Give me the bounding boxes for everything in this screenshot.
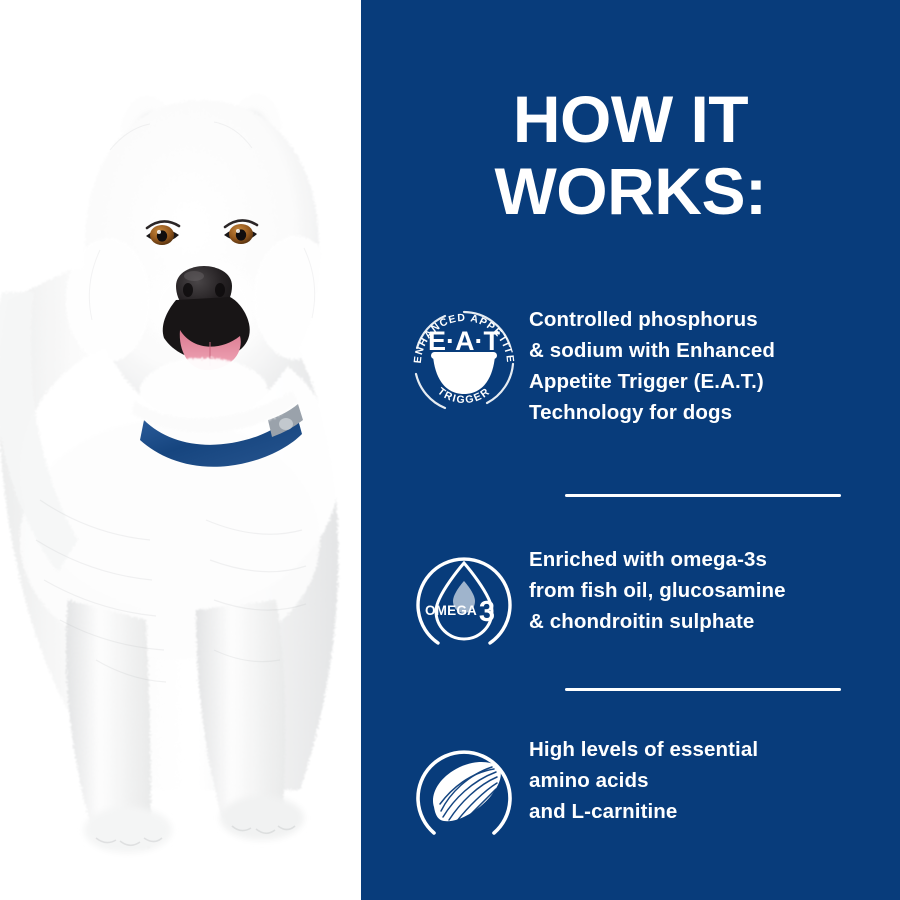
- feature-line: Controlled phosphorus: [529, 304, 775, 335]
- feature-line: Technology for dogs: [529, 397, 775, 428]
- muscle-fiber-icon: [399, 730, 529, 848]
- omega-word-label: OMEGA: [425, 603, 477, 618]
- section-divider: [565, 494, 841, 497]
- omega-number-label: 3: [479, 596, 495, 628]
- feature-line: and L-carnitine: [529, 796, 758, 827]
- feature-text-omega-3: Enriched with omega-3s from fish oil, gl…: [529, 540, 786, 637]
- feature-item-amino-acids: High levels of essential amino acids and…: [361, 730, 900, 848]
- promo-card: HOW IT WORKS:: [0, 0, 900, 900]
- feature-line: Enriched with omega-3s: [529, 544, 786, 575]
- section-divider: [565, 688, 841, 691]
- feature-item-eat-technology: E·A·T ENHANCED APPETITE TRIGGER Controll…: [361, 300, 900, 429]
- feature-text-amino-acids: High levels of essential amino acids and…: [529, 730, 758, 827]
- headline-line-2: WORKS:: [361, 160, 900, 223]
- page-title: HOW IT WORKS:: [361, 88, 900, 222]
- dog-photo-panel: [0, 0, 361, 900]
- feature-line: from fish oil, glucosamine: [529, 575, 786, 606]
- dog-photo: [0, 0, 361, 900]
- omega-3-droplet-icon: OMEGA 3: [399, 540, 529, 658]
- feature-line: Appetite Trigger (E.A.T.): [529, 366, 775, 397]
- feature-item-omega-3: OMEGA 3 Enriched with omega-3s from fish…: [361, 540, 900, 658]
- feature-text-eat-technology: Controlled phosphorus & sodium with Enha…: [529, 300, 775, 429]
- headline-line-1: HOW IT: [361, 88, 900, 151]
- feature-line: & chondroitin sulphate: [529, 606, 786, 637]
- feature-line: High levels of essential: [529, 734, 758, 765]
- eat-technology-badge-icon: E·A·T ENHANCED APPETITE TRIGGER: [399, 300, 529, 422]
- feature-line: amino acids: [529, 765, 758, 796]
- feature-line: & sodium with Enhanced: [529, 335, 775, 366]
- info-panel: HOW IT WORKS:: [361, 0, 900, 900]
